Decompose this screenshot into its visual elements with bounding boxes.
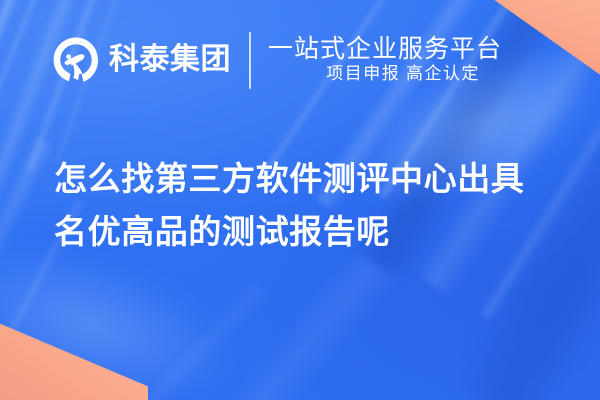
ketai-circular-logo-icon — [52, 36, 100, 84]
brand-lockup: 科泰集团 — [52, 36, 231, 84]
brand-name: 科泰集团 — [109, 45, 231, 75]
headline-line-2: 名优高品的测试报告呢 — [54, 205, 554, 258]
promo-banner: 科泰集团 一站式企业服务平台 项目申报 高企认定 怎么找第三方软件测评中心出具 … — [0, 0, 600, 400]
banner-header: 科泰集团 一站式企业服务平台 项目申报 高企认定 — [0, 0, 600, 120]
tagline-main: 一站式企业服务平台 — [268, 36, 502, 63]
headline-line-1: 怎么找第三方软件测评中心出具 — [54, 152, 554, 205]
page-title: 怎么找第三方软件测评中心出具 名优高品的测试报告呢 — [54, 152, 554, 259]
tagline-sub: 项目申报 高企认定 — [326, 65, 502, 84]
tagline-block: 一站式企业服务平台 项目申报 高企认定 — [268, 36, 502, 84]
brand-divider — [249, 32, 251, 89]
